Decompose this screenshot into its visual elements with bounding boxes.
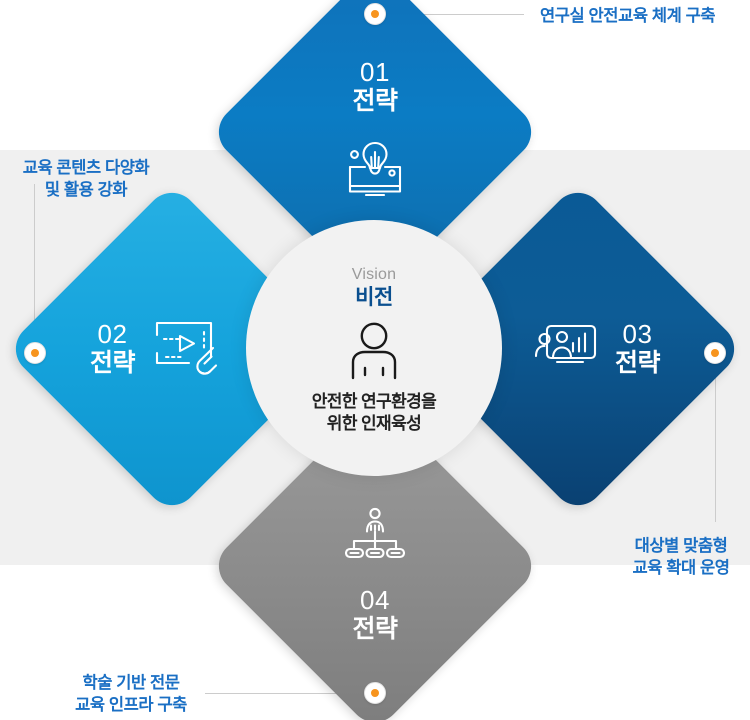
vision-title: 비전: [355, 285, 393, 310]
marker-dot-02[interactable]: [24, 342, 46, 364]
strategy-number-04: 04: [352, 586, 397, 615]
vision-eyebrow: Vision: [352, 266, 397, 284]
media-attachment-icon: [153, 319, 219, 380]
strategy-card-01-content: 01 전략: [257, 14, 493, 250]
strategy-number-02: 02: [90, 320, 135, 349]
strategy-word-01: 전략: [352, 87, 397, 116]
marker-dot-04[interactable]: [364, 682, 386, 704]
strategy-word-04: 전략: [352, 615, 397, 644]
lightbulb-monitor-icon: [344, 140, 406, 201]
callout-label-02: 교육 콘텐츠 다양화 및 활용 강화: [0, 157, 172, 202]
strategy-card-01-text: 01 전략: [352, 58, 397, 116]
vision-description: 안전한 연구환경을 위한 인재육성: [312, 391, 436, 436]
marker-dot-01[interactable]: [364, 3, 386, 25]
vision-circle: Vision 비전 안전한 연구환경을 위한 인재육성: [246, 220, 502, 476]
strategy-card-04-content: 04 전략: [257, 448, 493, 684]
callout-label-04: 학술 기반 전문 교육 인프라 구축: [52, 672, 210, 717]
marker-dot-03[interactable]: [704, 342, 726, 364]
org-chart-icon: [345, 507, 405, 564]
strategy-card-03-text: 03 전략: [615, 320, 660, 378]
strategy-number-03: 03: [615, 320, 660, 349]
callout-label-03: 대상별 맞춤형 교육 확대 운영: [612, 535, 750, 580]
callout-label-01: 연구실 안전교육 체계 구축: [540, 5, 740, 27]
person-icon: [347, 322, 401, 385]
diagram-canvas: 01 전략: [0, 0, 750, 720]
strategy-card-04-text: 04 전략: [352, 586, 397, 644]
strategy-word-02: 전략: [90, 349, 135, 378]
presentation-chart-person-icon: [535, 322, 599, 377]
connector-line-03: [715, 362, 716, 522]
strategy-card-02-text: 02 전략: [90, 320, 135, 378]
strategy-word-03: 전략: [615, 349, 660, 378]
strategy-number-01: 01: [352, 58, 397, 87]
